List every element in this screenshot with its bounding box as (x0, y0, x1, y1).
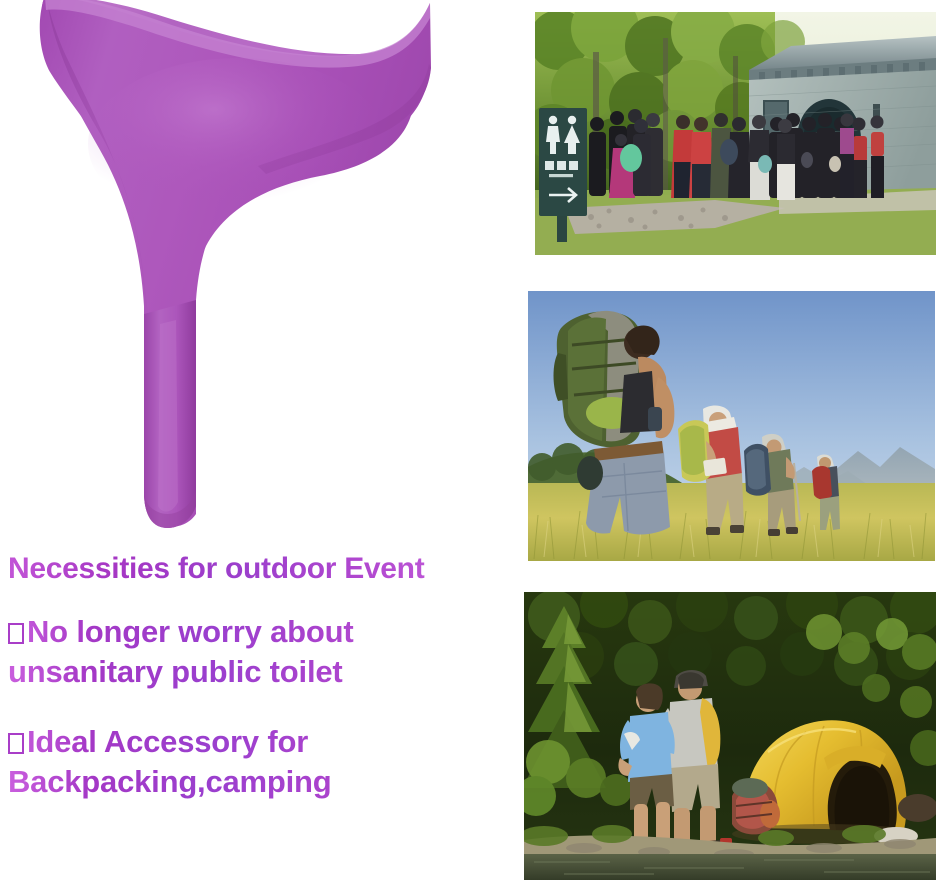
product-image: Purple silicone portable female urinatio… (0, 0, 470, 554)
bullet-line: unsanitary public toilet (8, 652, 500, 692)
bullet-line: Backpacking,camping (8, 762, 500, 802)
bullet-text: No longer worry about (27, 614, 353, 649)
hikers-in-field-photo: Four hikers with large backpacks walking… (528, 291, 935, 561)
bullet-line: No longer worry about (8, 612, 500, 652)
couple-camping-tent-photo: Smiling couple standing by a yellow dome… (524, 592, 936, 880)
marketing-image-canvas: Purple silicone portable female urinatio… (0, 0, 948, 892)
public-restroom-queue-photo: Long queue of people waiting outside a p… (535, 12, 936, 255)
marketing-copy: Necessities for outdoor Event No longer … (0, 552, 500, 803)
bullet-text: Ideal Accessory for (27, 724, 308, 759)
bullet-marker-icon (8, 623, 24, 644)
bullet-marker-icon (8, 733, 24, 754)
bullet-item-1: No longer worry about unsanitary public … (0, 612, 500, 693)
page-title: Necessities for outdoor Event (0, 552, 500, 586)
bullet-line: Ideal Accessory for (8, 722, 500, 762)
bullet-item-2: Ideal Accessory for Backpacking,camping (0, 722, 500, 803)
